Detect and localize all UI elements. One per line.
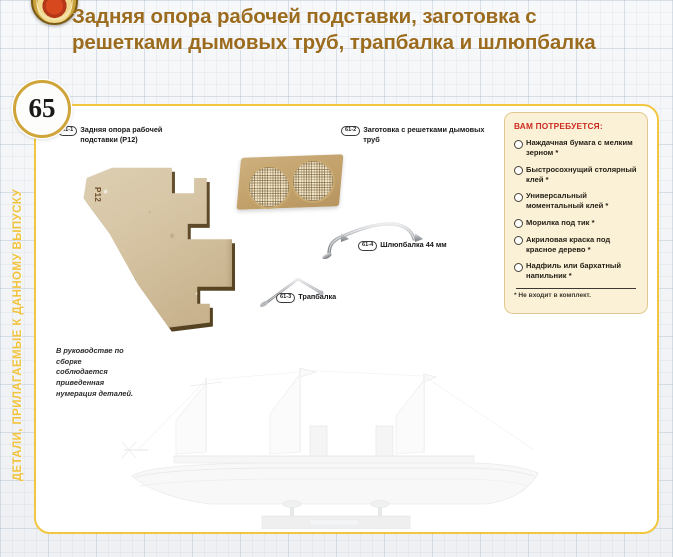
issue-number: 65 xyxy=(29,95,56,124)
materials-panel: ВАМ ПОТРЕБУЕТСЯ: Наждачная бумага с мелк… xyxy=(504,112,648,314)
material-item[interactable]: Акриловая краска под красное дерево * xyxy=(514,235,638,255)
part-image-funnel-gratings xyxy=(239,156,341,208)
part-label: Трапбалка xyxy=(298,292,336,302)
page-root: Задняя опора рабочей подставки, заготовк… xyxy=(0,0,673,557)
checkbox-icon[interactable] xyxy=(514,236,523,245)
side-tab-label: ДЕТАЛИ, ПРИЛАГАЕМЫЕ К ДАННОМУ ВЫПУСКУ xyxy=(12,189,24,481)
part-tag: 61-2 xyxy=(341,126,360,137)
part-engraving-label: P12 xyxy=(93,187,102,202)
material-label: Морилка под тик * xyxy=(526,218,595,228)
material-item[interactable]: Универсальный моментальный клей * xyxy=(514,191,638,211)
material-label: Наждачная бумага с мелким зерном * xyxy=(526,138,638,158)
part-callout-gangway-davit: 61-3 Трапбалка xyxy=(276,292,386,303)
materials-title: ВАМ ПОТРЕБУЕТСЯ: xyxy=(514,121,638,131)
materials-footnote: * Не входит в комплект. xyxy=(514,292,638,299)
part-tag: 61-4 xyxy=(358,241,377,252)
grating-disc xyxy=(247,165,291,209)
material-item[interactable]: Быстросохнущий столярный клей * xyxy=(514,165,638,185)
checkbox-icon[interactable] xyxy=(514,166,523,175)
part-image-boat-davit xyxy=(319,211,423,259)
page-title: Задняя опора рабочей подставки, заготовк… xyxy=(72,4,652,57)
publication-emblem-icon xyxy=(31,0,78,25)
checkbox-icon[interactable] xyxy=(514,140,523,149)
checkbox-icon[interactable] xyxy=(514,193,523,202)
part-callout-boat-davit: 61-4 Шлюпбалка 44 мм xyxy=(358,240,483,251)
grating-disc xyxy=(291,159,335,203)
checkbox-icon[interactable] xyxy=(514,219,523,228)
material-label: Быстросохнущий столярный клей * xyxy=(526,165,638,185)
part-image-rear-support: P12 xyxy=(74,161,232,331)
material-item[interactable]: Наждачная бумага с мелким зерном * xyxy=(514,138,638,158)
material-item[interactable]: Надфиль или бархатный напильник * xyxy=(514,261,638,281)
part-label: Задняя опора рабочей подставки (P12) xyxy=(80,125,198,144)
ship-model-photo xyxy=(114,364,554,529)
part-label: Шлюпбалка 44 мм xyxy=(380,240,446,250)
issue-number-badge: 65 xyxy=(13,80,71,138)
part-label: Заготовка с решетками дымовых труб xyxy=(363,125,491,144)
material-label: Акриловая краска под красное дерево * xyxy=(526,235,638,255)
material-label: Надфиль или бархатный напильник * xyxy=(526,261,638,281)
part-tag: 61-3 xyxy=(276,293,295,304)
side-tab: ДЕТАЛИ, ПРИЛАГАЕМЫЕ К ДАННОМУ ВЫПУСКУ xyxy=(7,150,29,520)
part-callout-funnel-gratings: 61-2 Заготовка с решетками дымовых труб xyxy=(341,125,491,144)
part-callout-rear-support: 61-1 Задняя опора рабочей подставки (P12… xyxy=(58,125,198,144)
divider xyxy=(516,288,636,289)
material-label: Универсальный моментальный клей * xyxy=(526,191,638,211)
material-item[interactable]: Морилка под тик * xyxy=(514,218,638,229)
checkbox-icon[interactable] xyxy=(514,263,523,272)
